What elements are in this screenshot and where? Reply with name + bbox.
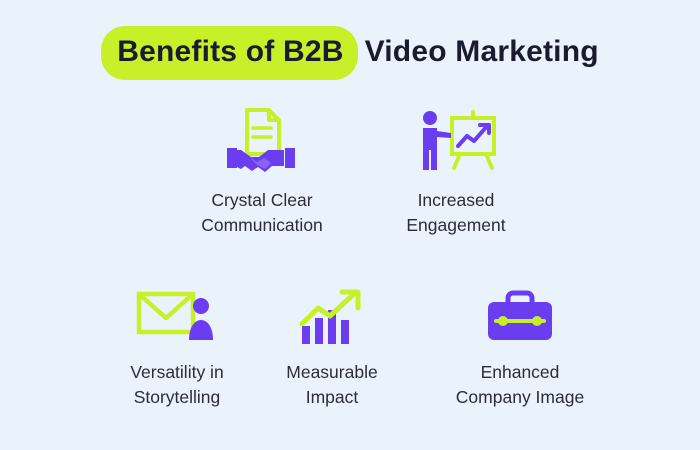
presentation-person-icon: [410, 106, 502, 178]
benefit-label: Versatility in Storytelling: [92, 360, 262, 410]
title-highlight: Benefits of B2B: [101, 26, 357, 80]
icon-box: [366, 106, 546, 178]
benefit-item-measurable-impact: Measurable Impact: [257, 278, 407, 410]
icon-box: [92, 278, 262, 350]
benefit-item-crystal-clear-communication: Crystal Clear Communication: [172, 106, 352, 238]
icon-box: [172, 106, 352, 178]
benefit-label: Measurable Impact: [257, 360, 407, 410]
infographic-canvas: Benefits of B2BVideo Marketing: [0, 0, 700, 450]
page-title: Benefits of B2BVideo Marketing: [0, 26, 700, 80]
envelope-person-icon: [131, 286, 223, 350]
benefit-item-versatility-in-storytelling: Versatility in Storytelling: [92, 278, 262, 410]
briefcase-icon: [478, 286, 562, 350]
benefit-label: Enhanced Company Image: [420, 360, 620, 410]
benefit-label: Crystal Clear Communication: [172, 188, 352, 238]
title-line: Benefits of B2BVideo Marketing: [101, 26, 599, 80]
benefit-item-increased-engagement: Increased Engagement: [366, 106, 546, 238]
growth-bar-chart-icon: [292, 286, 372, 350]
benefit-item-enhanced-company-image: Enhanced Company Image: [420, 278, 620, 410]
benefit-label: Increased Engagement: [366, 188, 546, 238]
icon-box: [420, 278, 620, 350]
handshake-document-icon: [219, 106, 305, 178]
title-rest: Video Marketing: [358, 30, 599, 74]
icon-box: [257, 278, 407, 350]
